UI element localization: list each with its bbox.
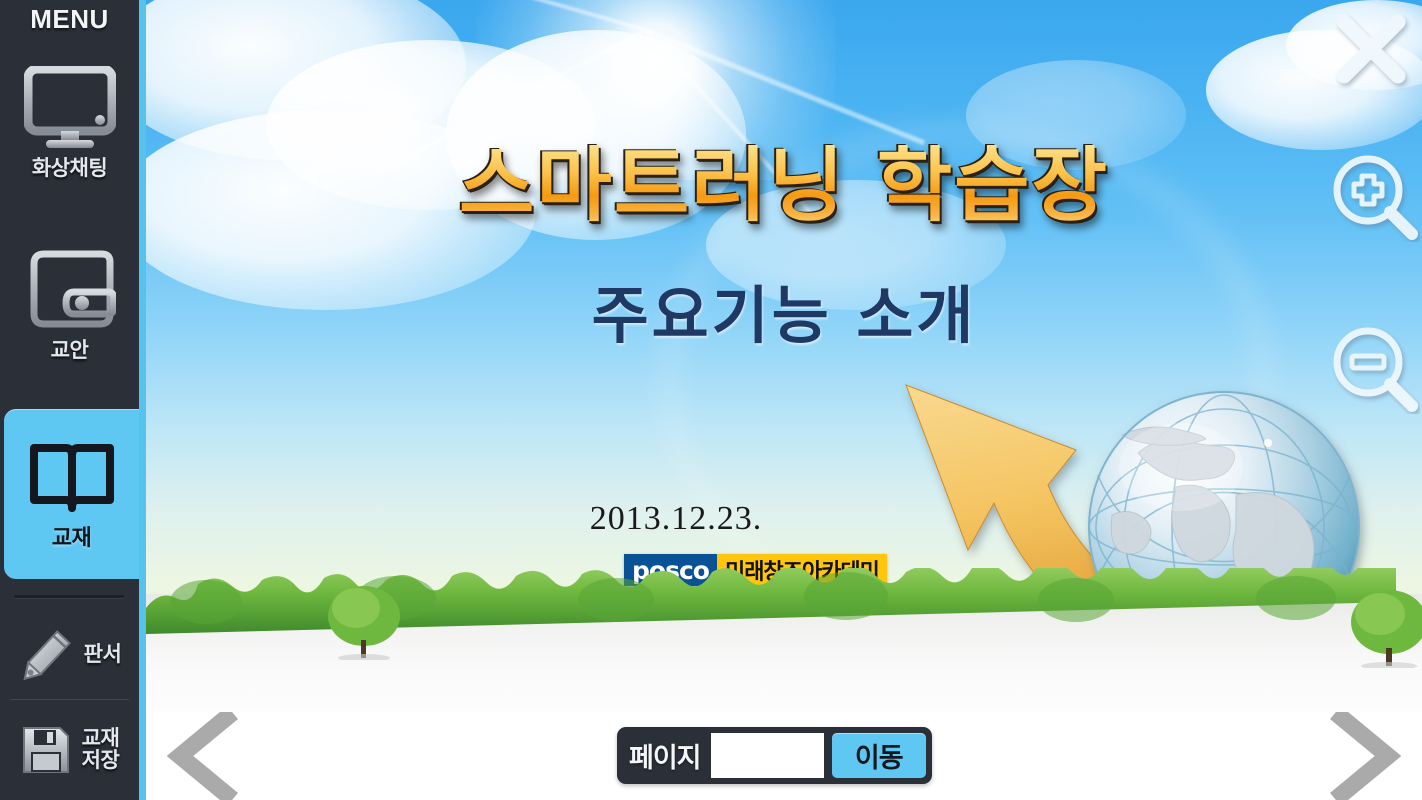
sidebar-item-video-chat[interactable]: 화상채팅 xyxy=(0,48,139,198)
sidebar-item-save-textbook[interactable]: 교재저장 xyxy=(0,706,139,794)
monitor-icon xyxy=(24,66,116,152)
sidebar-item-label: 교재저장 xyxy=(82,728,120,772)
open-book-icon xyxy=(28,438,116,518)
sidebar-item-lesson-plan[interactable]: 교안 xyxy=(0,230,139,380)
slide-title: 스마트러닝 학습장 xyxy=(146,145,1422,227)
tree xyxy=(324,582,404,660)
slide-subtitle: 주요기능 소개 xyxy=(146,285,1422,347)
menu-title: MENU xyxy=(0,1,139,37)
page-navigation-box: 페이지 이동 xyxy=(617,727,932,784)
go-button[interactable]: 이동 xyxy=(832,733,926,778)
sidebar-item-label: 교안 xyxy=(51,340,89,362)
app-root: MENU 화상채팅 xyxy=(0,0,1422,800)
close-button[interactable] xyxy=(1330,8,1412,90)
page-label: 페이지 xyxy=(623,736,711,775)
bottom-bar: 페이지 이동 xyxy=(146,712,1422,800)
sun-ray xyxy=(645,28,925,145)
zoom-out-button[interactable] xyxy=(1328,322,1420,414)
sidebar-item-label: 화상채팅 xyxy=(32,158,107,180)
floppy-disk-icon xyxy=(20,724,72,776)
prev-page-button[interactable] xyxy=(154,712,264,800)
zoom-in-button[interactable] xyxy=(1328,150,1420,242)
next-page-button[interactable] xyxy=(1304,712,1414,800)
page-input[interactable] xyxy=(711,733,824,778)
close-icon xyxy=(1330,8,1412,90)
pencil-icon xyxy=(18,628,74,682)
sun-ray xyxy=(434,0,647,32)
sidebar-divider xyxy=(10,699,129,700)
tree xyxy=(1346,586,1422,668)
slide-canvas[interactable]: 스마트러닝 학습장 주요기능 소개 2013.12.23. posco 미래창조… xyxy=(146,0,1422,712)
sidebar-accent-edge xyxy=(139,0,146,800)
sidebar-divider xyxy=(14,595,124,598)
chevron-left-icon xyxy=(154,712,264,800)
chevron-right-icon xyxy=(1304,712,1414,800)
sidebar-item-label: 교재 xyxy=(52,526,91,549)
zoom-out-icon xyxy=(1328,322,1420,414)
wallet-icon xyxy=(24,248,116,332)
sidebar-item-annotate[interactable]: 판서 xyxy=(0,618,139,692)
sidebar-item-textbook[interactable]: 교재 xyxy=(4,409,139,579)
sidebar: MENU 화상채팅 xyxy=(0,0,139,800)
zoom-in-icon xyxy=(1328,150,1420,242)
cloud xyxy=(146,0,466,160)
sidebar-item-label: 판서 xyxy=(84,644,122,666)
